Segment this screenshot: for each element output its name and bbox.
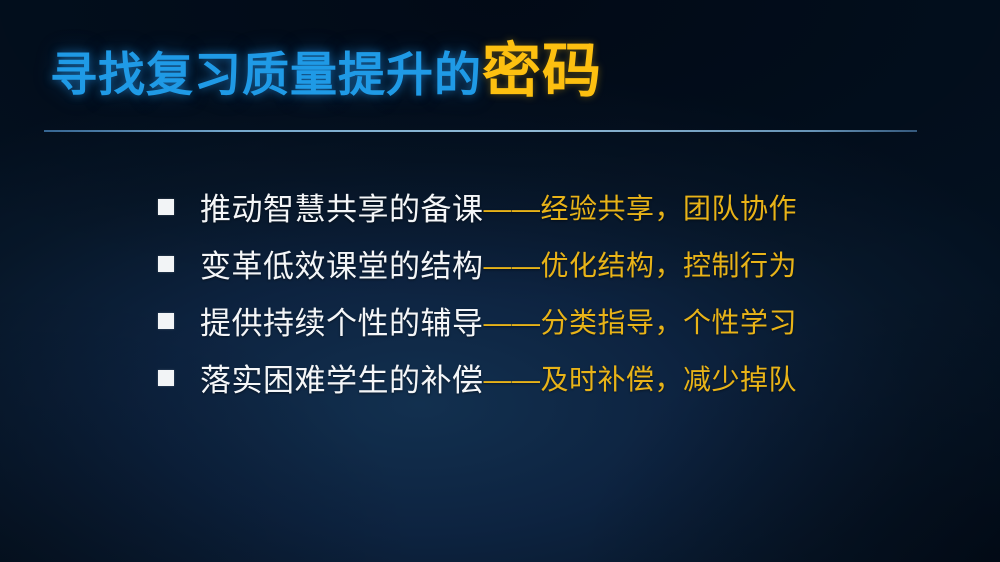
page-title-main: 寻找复习质量提升的 xyxy=(50,48,482,101)
bullet-list: 推动智慧共享的备课——经验共享，团队协作 变革低效课堂的结构——优化结构，控制行… xyxy=(158,178,797,406)
list-item: 落实困难学生的补偿——及时补偿，减少掉队 xyxy=(158,349,797,406)
list-item-detail: ——优化结构，控制行为 xyxy=(484,244,798,284)
page-title: 寻找复习质量提升的密码 xyxy=(50,42,602,101)
page-title-accent: 密码 xyxy=(482,38,602,104)
filled-square-bullet-icon xyxy=(158,313,174,329)
list-item: 推动智慧共享的备课——经验共享，团队协作 xyxy=(158,178,797,235)
list-item: 变革低效课堂的结构——优化结构，控制行为 xyxy=(158,235,797,292)
list-item: 提供持续个性的辅导——分类指导，个性学习 xyxy=(158,292,797,349)
list-item-detail: ——分类指导，个性学习 xyxy=(484,301,798,341)
filled-square-bullet-icon xyxy=(158,256,174,272)
list-item-label: 提供持续个性的辅导 xyxy=(200,298,484,343)
list-item-detail: ——及时补偿，减少掉队 xyxy=(484,358,798,398)
list-item-label: 落实困难学生的补偿 xyxy=(200,355,484,400)
filled-square-bullet-icon xyxy=(158,370,174,386)
list-item-label: 变革低效课堂的结构 xyxy=(200,241,484,286)
list-item-detail: ——经验共享，团队协作 xyxy=(484,187,798,227)
title-divider xyxy=(44,130,917,132)
slide-canvas: 寻找复习质量提升的密码 推动智慧共享的备课——经验共享，团队协作 变革低效课堂的… xyxy=(0,0,1000,562)
list-item-label: 推动智慧共享的备课 xyxy=(200,184,484,229)
filled-square-bullet-icon xyxy=(158,199,174,215)
